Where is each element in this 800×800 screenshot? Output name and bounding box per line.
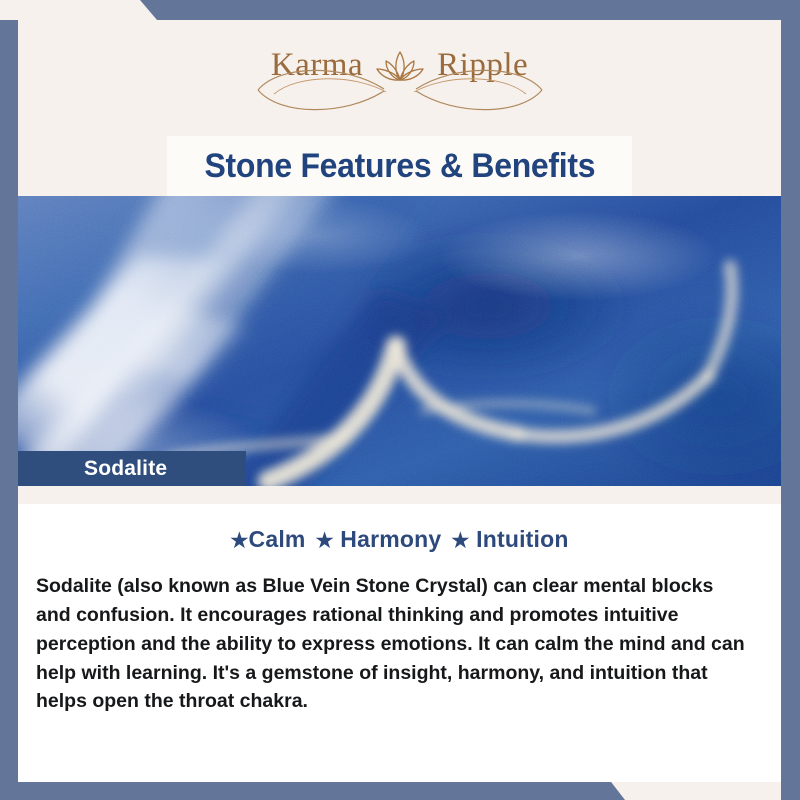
brand-logo: Karma Ripple bbox=[18, 42, 781, 88]
keyword-calm: Calm bbox=[249, 526, 306, 552]
stone-name: Sodalite bbox=[84, 457, 167, 481]
star-icon: ★ bbox=[230, 530, 248, 552]
keywords-line: ★Calm★ Harmony★ Intuition bbox=[18, 526, 781, 553]
star-icon: ★ bbox=[316, 530, 334, 552]
page-title: Stone Features & Benefits bbox=[204, 147, 595, 186]
keyword-intuition: Intuition bbox=[476, 526, 569, 552]
title-band: Stone Features & Benefits bbox=[167, 136, 632, 196]
content-card: ★Calm★ Harmony★ Intuition Sodalite (also… bbox=[18, 504, 781, 782]
brand-name-left: Karma bbox=[271, 49, 363, 82]
header: Karma Ripple bbox=[18, 20, 781, 142]
brand-name-right: Ripple bbox=[437, 49, 528, 82]
stone-name-bar: Sodalite bbox=[18, 451, 246, 486]
infographic-card: Karma Ripple Stone Features & Benefits bbox=[0, 0, 800, 800]
keyword-harmony: Harmony bbox=[340, 526, 441, 552]
frame-left-band bbox=[0, 0, 18, 800]
frame-corner-mask bbox=[0, 0, 18, 20]
stone-description: Sodalite (also known as Blue Vein Stone … bbox=[36, 572, 751, 716]
section-divider bbox=[18, 486, 781, 504]
lotus-flower-icon bbox=[365, 42, 435, 88]
sodalite-texture-graphic bbox=[18, 196, 781, 486]
frame-right-band bbox=[781, 0, 800, 800]
star-icon: ★ bbox=[451, 530, 469, 552]
stone-image bbox=[18, 196, 781, 486]
frame-top-band bbox=[0, 0, 800, 20]
